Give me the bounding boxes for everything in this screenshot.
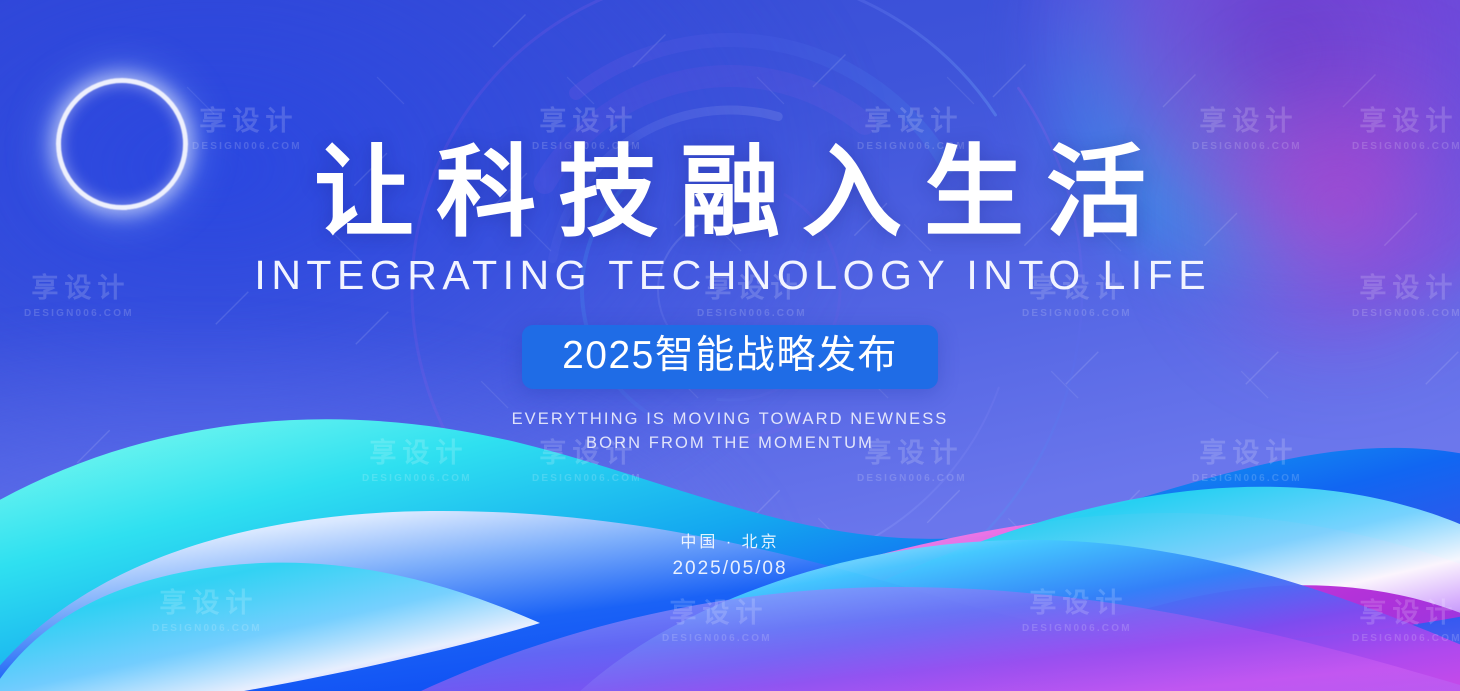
poster-subtitle-english: INTEGRATING TECHNOLOGY INTO LIFE [249, 255, 1211, 296]
poster-main-title: 让科技融入生活 [292, 137, 1168, 249]
event-date: 2025/05/08 [672, 558, 787, 581]
poster-canvas: 享设计 DESIGN006.COM 享设计 DESIGN006.COM 享设计 … [0, 0, 1460, 691]
event-badge: 2025智能战略发布 [522, 325, 938, 389]
event-location: 中国 · 北京 [672, 532, 787, 554]
tagline-line-2: BORN FROM THE MOMENTUM [512, 432, 949, 456]
poster-tagline: EVERYTHING IS MOVING TOWARD NEWNESS BORN… [512, 408, 949, 456]
event-meta: 中国 · 北京 2025/05/08 [672, 532, 787, 581]
tagline-line-1: EVERYTHING IS MOVING TOWARD NEWNESS [512, 408, 949, 432]
poster-content: 让科技融入生活 INTEGRATING TECHNOLOGY INTO LIFE… [0, 0, 1460, 691]
